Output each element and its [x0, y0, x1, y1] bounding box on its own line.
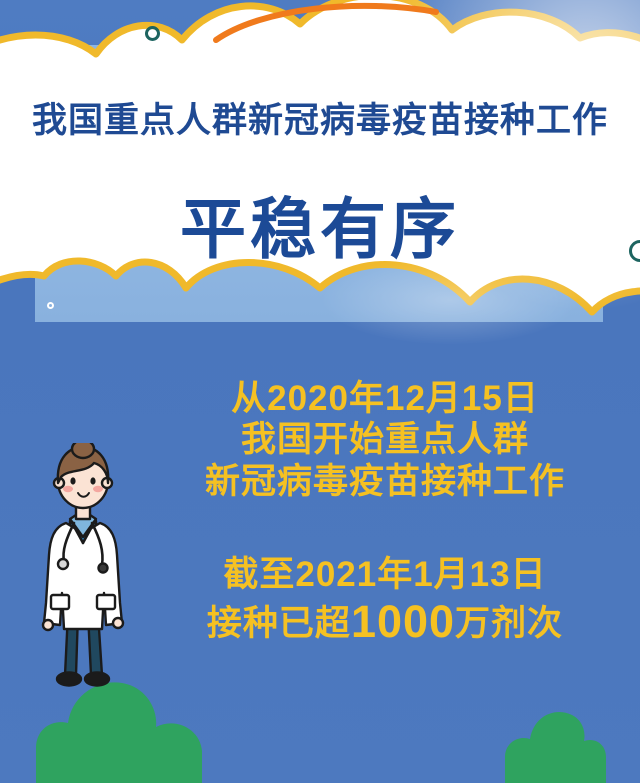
doctor-hair-bun [72, 443, 94, 458]
stethoscope-bell [58, 559, 68, 569]
copy-spacer [150, 502, 620, 554]
body-line: 从2020年12月15日 [150, 378, 620, 419]
total-number: 1000 [351, 596, 455, 647]
doctor-illustration [28, 443, 138, 718]
body-block-two: 截至2021年1月13日 接种已超1000万剂次 [150, 554, 620, 648]
stethoscope-chestpiece [99, 564, 108, 573]
total-prefix: 接种已超 [207, 604, 351, 643]
doctor-pocket-left [51, 595, 69, 609]
doctor-cheek-left [63, 486, 73, 492]
body-line-total: 接种已超1000万剂次 [150, 595, 620, 648]
doctor-pocket-right [97, 595, 115, 609]
doctor-hand-left [43, 620, 53, 630]
doctor-shoe-right [85, 673, 109, 686]
body-line: 截至2021年1月13日 [150, 554, 620, 595]
body-copy: 从2020年12月15日 我国开始重点人群 新冠病毒疫苗接种工作 截至2021年… [150, 378, 620, 648]
doctor-shoe-left [57, 673, 81, 686]
body-line: 新冠病毒疫苗接种工作 [150, 461, 620, 502]
infographic-poster: 我国重点人群新冠病毒疫苗接种工作 平稳有序 从2020年12月15日 我国开始重… [0, 0, 640, 783]
doctor-eye-left [70, 477, 75, 484]
doctor-hand-right [113, 618, 123, 628]
body-block-one: 从2020年12月15日 我国开始重点人群 新冠病毒疫苗接种工作 [150, 378, 620, 502]
orange-arc-icon [0, 0, 640, 340]
doctor-cheek-right [93, 486, 103, 492]
doctor-eye-right [90, 477, 95, 484]
body-line: 我国开始重点人群 [150, 419, 620, 460]
bush-right [505, 712, 606, 783]
total-suffix: 万剂次 [455, 604, 563, 643]
